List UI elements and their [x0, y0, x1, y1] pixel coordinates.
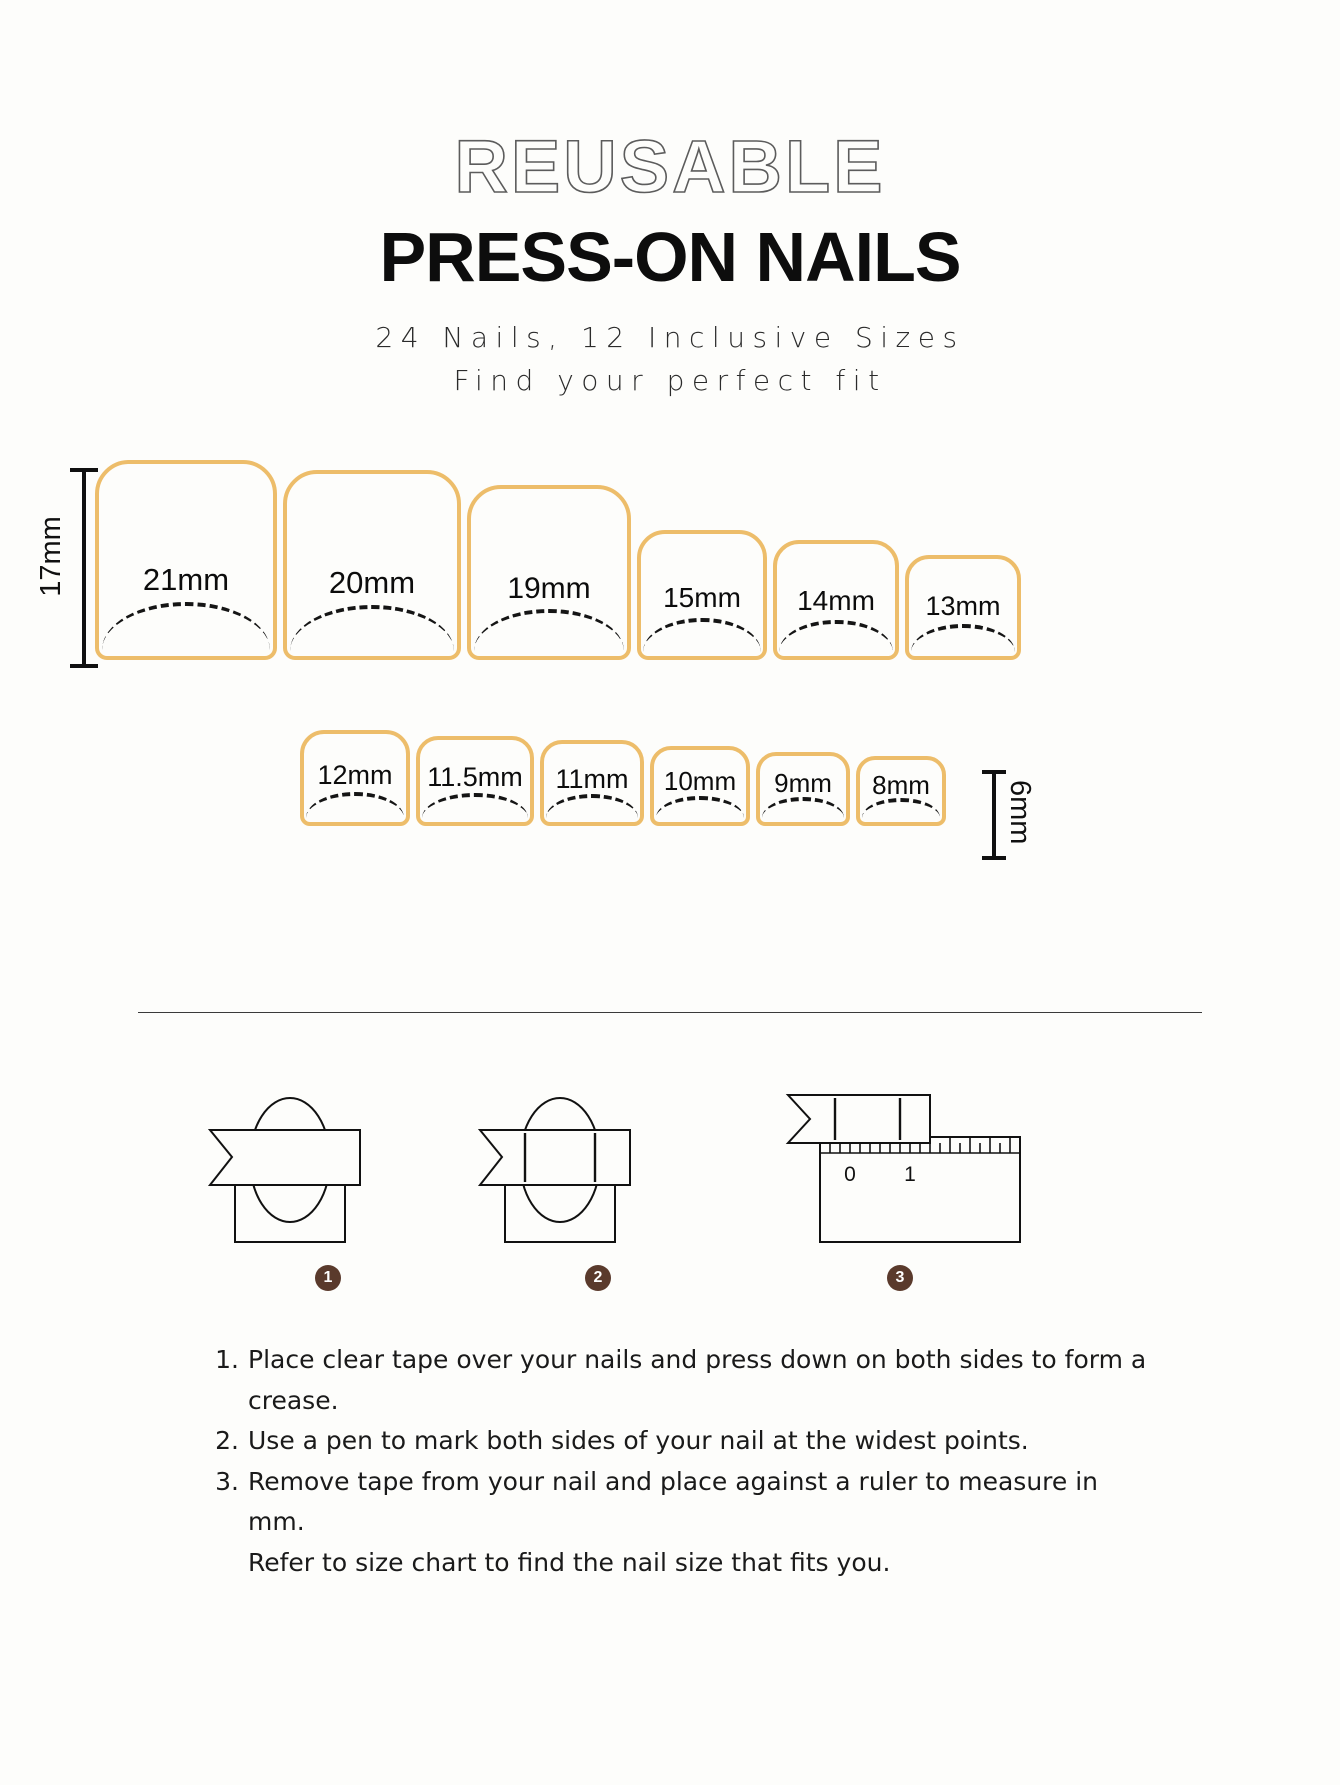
- nail-swatch[interactable]: 12mm: [300, 730, 410, 826]
- step-badge: 3: [887, 1265, 913, 1291]
- nail-swatch[interactable]: 8mm: [856, 756, 946, 826]
- nail-size-label: 10mm: [664, 766, 736, 797]
- subtitle-line-2: Find your perfect fit: [0, 361, 1340, 402]
- section-divider: [138, 1012, 1202, 1013]
- instruction-text: Place clear tape over your nails and pre…: [248, 1340, 1155, 1421]
- instruction-number: 1.: [205, 1340, 239, 1381]
- nail-cuticle-arc: [762, 797, 845, 818]
- nail-cuticle-arc: [306, 792, 404, 818]
- step-diagrams: 1 2: [0, 1075, 1340, 1305]
- instruction-item: 3. Remove tape from your nail and place …: [205, 1462, 1155, 1543]
- nail-cuticle-arc: [779, 620, 892, 652]
- instruction-text: Remove tape from your nail and place aga…: [248, 1462, 1155, 1543]
- instruction-continuation: Refer to size chart to find the nail siz…: [248, 1543, 1155, 1584]
- nail-size-label: 15mm: [663, 582, 741, 614]
- nail-cuticle-arc: [102, 602, 269, 650]
- nail-swatch[interactable]: 13mm: [905, 555, 1021, 660]
- nail-swatch[interactable]: 20mm: [283, 470, 461, 660]
- nail-size-label: 11mm: [555, 764, 628, 795]
- nail-cuticle-arc: [656, 796, 744, 818]
- nail-cuticle-arc: [643, 618, 760, 652]
- nail-cuticle-arc: [862, 798, 941, 818]
- step-badge: 1: [315, 1265, 341, 1291]
- header: REUSABLE PRESS-ON NAILS 24 Nails, 12 Inc…: [0, 0, 1340, 401]
- instruction-item: 1. Place clear tape over your nails and …: [205, 1340, 1155, 1421]
- nail-size-label: 13mm: [925, 591, 1000, 622]
- step-diagram-2: 2: [470, 1075, 730, 1260]
- instruction-text: Use a pen to mark both sides of your nai…: [248, 1421, 1155, 1462]
- nail-size-label: 14mm: [797, 585, 875, 617]
- nail-size-label: 19mm: [507, 572, 590, 606]
- instruction-number: 3.: [205, 1462, 239, 1503]
- nail-cuticle-arc: [546, 794, 638, 818]
- nail-swatch[interactable]: 14mm: [773, 540, 899, 660]
- dimension-bracket-right: 6mm: [980, 770, 1050, 860]
- nail-size-label: 11.5mm: [427, 762, 523, 793]
- ruler-tick-0: 0: [844, 1163, 856, 1186]
- nail-swatch[interactable]: 11mm: [540, 740, 644, 826]
- nail-cuticle-arc: [422, 793, 528, 818]
- mark-nail-edges-icon: [470, 1075, 730, 1260]
- instructions-list: 1. Place clear tape over your nails and …: [205, 1340, 1155, 1583]
- bracket-bar: [992, 770, 996, 860]
- step-badge: 2: [585, 1265, 611, 1291]
- nail-size-label: 9mm: [774, 768, 832, 799]
- step-diagram-3: 0 1 3: [780, 1075, 1040, 1260]
- title-outline: REUSABLE: [0, 130, 1340, 204]
- instruction-item: 2. Use a pen to mark both sides of your …: [205, 1421, 1155, 1462]
- nail-row-small: 12mm 11.5mm 11mm 10mm 9mm 8mm: [300, 730, 952, 826]
- dimension-label-small-height: 6mm: [1003, 780, 1036, 844]
- nail-size-label: 8mm: [872, 770, 930, 801]
- size-chart-page: REUSABLE PRESS-ON NAILS 24 Nails, 12 Inc…: [0, 0, 1340, 1785]
- step-diagram-1: 1: [200, 1075, 460, 1260]
- nail-swatch[interactable]: 11.5mm: [416, 736, 534, 826]
- nail-cuticle-arc: [911, 624, 1015, 652]
- nail-row-large: 21mm 20mm 19mm 15mm 14mm 13mm: [95, 460, 1027, 660]
- nail-size-label: 12mm: [317, 760, 392, 791]
- tape-over-nail-icon: [200, 1075, 460, 1260]
- nail-size-label: 21mm: [143, 562, 229, 598]
- subtitle-line-1: 24 Nails, 12 Inclusive Sizes: [0, 318, 1340, 359]
- bracket-cap-bottom: [982, 856, 1006, 860]
- nail-cuticle-arc: [290, 605, 453, 651]
- instruction-number: 2.: [205, 1421, 239, 1462]
- measure-with-ruler-icon: 0 1: [780, 1075, 1040, 1260]
- nail-swatch[interactable]: 21mm: [95, 460, 277, 660]
- page-title: PRESS-ON NAILS: [0, 222, 1340, 292]
- nail-cuticle-arc: [474, 609, 624, 651]
- nail-swatch[interactable]: 19mm: [467, 485, 631, 660]
- nail-swatch[interactable]: 9mm: [756, 752, 850, 826]
- nail-swatch[interactable]: 15mm: [637, 530, 767, 660]
- nail-size-chart: 21mm 20mm 19mm 15mm 14mm 13mm: [0, 440, 1340, 900]
- nail-swatch[interactable]: 10mm: [650, 746, 750, 826]
- nail-size-label: 20mm: [329, 565, 415, 601]
- ruler-tick-1: 1: [904, 1163, 916, 1186]
